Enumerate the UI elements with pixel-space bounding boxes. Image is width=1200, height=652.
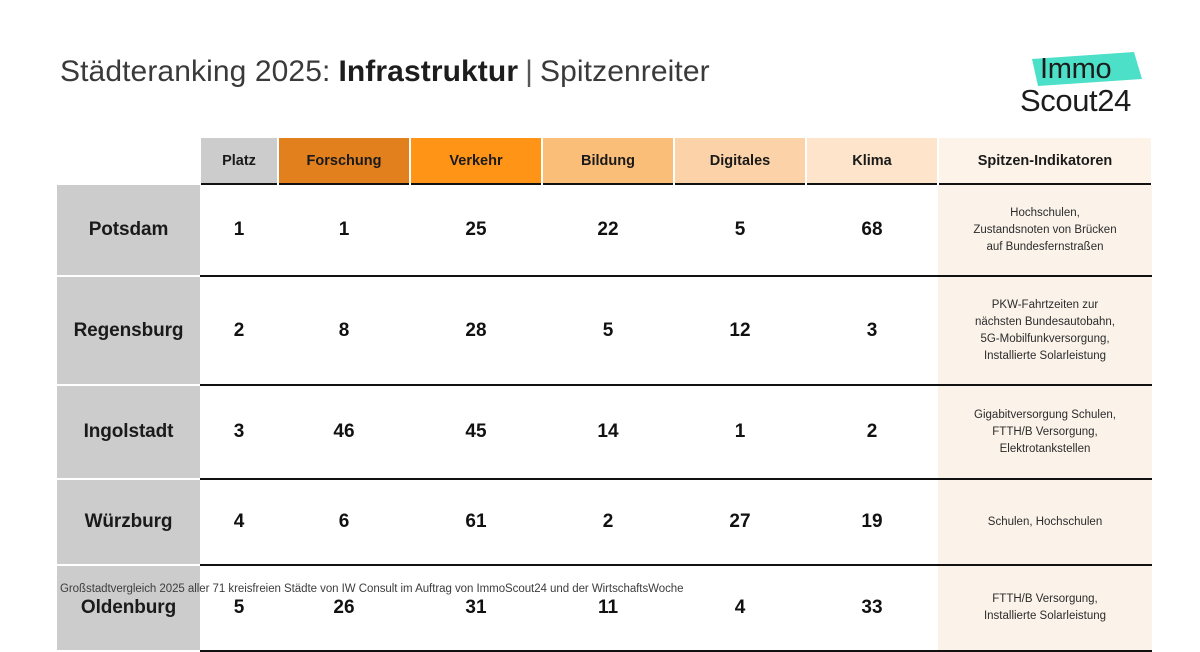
- ranking-table: Platz Forschung Verkehr Bildung Digitale…: [57, 138, 1153, 652]
- table-row: Potsdam 1 1 25 22 5 68 Hochschulen,Zusta…: [57, 184, 1152, 276]
- row-bildung: 22: [542, 184, 674, 276]
- row-city-name: Potsdam: [57, 184, 200, 276]
- row-digitales: 4: [674, 565, 806, 651]
- logo-text-immo: Immo: [1040, 53, 1111, 85]
- row-verkehr: 28: [410, 276, 542, 385]
- row-digitales: 1: [674, 385, 806, 479]
- title-prefix: Städteranking 2025:: [60, 54, 330, 90]
- row-city-name: Würzburg: [57, 479, 200, 565]
- row-forschung: 8: [278, 276, 410, 385]
- row-verkehr: 25: [410, 184, 542, 276]
- row-klima: 3: [806, 276, 938, 385]
- row-platz: 1: [200, 184, 278, 276]
- row-verkehr: 61: [410, 479, 542, 565]
- header-forschung: Forschung: [278, 138, 410, 184]
- source-footnote: Großstadtvergleich 2025 aller 71 kreisfr…: [60, 581, 684, 597]
- row-platz: 4: [200, 479, 278, 565]
- row-bildung: 2: [542, 479, 674, 565]
- table-row: Würzburg 4 6 61 2 27 19 Schulen, Hochsch…: [57, 479, 1152, 565]
- row-klima: 2: [806, 385, 938, 479]
- header-indikatoren: Spitzen-Indikatoren: [938, 138, 1152, 184]
- row-bildung: 14: [542, 385, 674, 479]
- infographic-page: Städteranking 2025: Infrastruktur | Spit…: [0, 0, 1200, 630]
- row-platz: 3: [200, 385, 278, 479]
- title-suffix: Spitzenreiter: [540, 54, 710, 90]
- row-verkehr: 31: [410, 565, 542, 651]
- row-indikatoren: FTTH/B Versorgung,Installierte Solarleis…: [938, 565, 1152, 651]
- table-head: Platz Forschung Verkehr Bildung Digitale…: [57, 138, 1152, 184]
- page-title: Städteranking 2025: Infrastruktur | Spit…: [60, 54, 710, 90]
- ranking-table-wrapper: Platz Forschung Verkehr Bildung Digitale…: [57, 138, 1148, 652]
- row-bildung: 11: [542, 565, 674, 651]
- row-klima: 19: [806, 479, 938, 565]
- row-forschung: 46: [278, 385, 410, 479]
- row-klima: 33: [806, 565, 938, 651]
- row-indikatoren: Hochschulen,Zustandsnoten von Brückenauf…: [938, 184, 1152, 276]
- row-indikatoren: PKW-Fahrtzeiten zurnächsten Bundesautoba…: [938, 276, 1152, 385]
- header-klima: Klima: [806, 138, 938, 184]
- page-header: Städteranking 2025: Infrastruktur | Spit…: [60, 54, 1152, 128]
- row-platz: 5: [200, 565, 278, 651]
- title-category: Infrastruktur: [330, 54, 518, 90]
- table-row: Regensburg 2 8 28 5 12 3 PKW-Fahrtzeiten…: [57, 276, 1152, 385]
- immoscout24-logo: Immo Scout24: [1020, 50, 1152, 122]
- row-city-name: Ingolstadt: [57, 385, 200, 479]
- logo-text-scout24: Scout24: [1020, 83, 1131, 119]
- row-digitales: 27: [674, 479, 806, 565]
- row-forschung: 6: [278, 479, 410, 565]
- row-forschung: 26: [278, 565, 410, 651]
- row-digitales: 12: [674, 276, 806, 385]
- header-verkehr: Verkehr: [410, 138, 542, 184]
- row-city-name: Oldenburg: [57, 565, 200, 651]
- header-platz: Platz: [200, 138, 278, 184]
- row-verkehr: 45: [410, 385, 542, 479]
- table-row: Ingolstadt 3 46 45 14 1 2 Gigabitversorg…: [57, 385, 1152, 479]
- row-indikatoren: Schulen, Hochschulen: [938, 479, 1152, 565]
- row-digitales: 5: [674, 184, 806, 276]
- row-bildung: 5: [542, 276, 674, 385]
- header-bildung: Bildung: [542, 138, 674, 184]
- header-digitales: Digitales: [674, 138, 806, 184]
- title-separator: |: [518, 54, 540, 90]
- table-header-row: Platz Forschung Verkehr Bildung Digitale…: [57, 138, 1152, 184]
- row-klima: 68: [806, 184, 938, 276]
- header-city-blank: [57, 138, 200, 184]
- row-platz: 2: [200, 276, 278, 385]
- row-forschung: 1: [278, 184, 410, 276]
- row-indikatoren: Gigabitversorgung Schulen,FTTH/B Versorg…: [938, 385, 1152, 479]
- row-city-name: Regensburg: [57, 276, 200, 385]
- table-row: Oldenburg 5 26 31 11 4 33 FTTH/B Versorg…: [57, 565, 1152, 651]
